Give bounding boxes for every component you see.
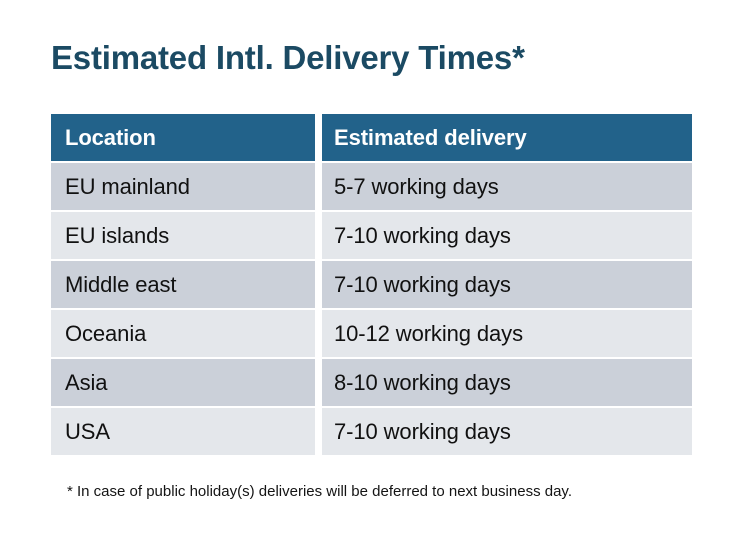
cell-delivery: 7-10 working days <box>322 212 692 259</box>
column-divider <box>315 261 322 308</box>
column-header-delivery-label: Estimated delivery <box>334 125 527 151</box>
cell-delivery: 7-10 working days <box>322 408 692 455</box>
cell-location-text: EU mainland <box>65 174 190 200</box>
cell-delivery-text: 10-12 working days <box>334 321 523 347</box>
cell-location: EU mainland <box>51 163 315 210</box>
cell-location: Middle east <box>51 261 315 308</box>
cell-location-text: Middle east <box>65 272 176 298</box>
cell-delivery-text: 7-10 working days <box>334 223 511 249</box>
column-header-location-label: Location <box>65 125 156 151</box>
table-row: EU islands 7-10 working days <box>51 212 692 259</box>
cell-location-text: Asia <box>65 370 107 396</box>
column-divider <box>315 310 322 357</box>
cell-location-text: USA <box>65 419 110 445</box>
cell-delivery: 5-7 working days <box>322 163 692 210</box>
column-divider <box>315 359 322 406</box>
cell-location-text: Oceania <box>65 321 146 347</box>
table-header-row: Location Estimated delivery <box>51 114 692 161</box>
column-divider <box>315 114 322 161</box>
cell-delivery-text: 7-10 working days <box>334 272 511 298</box>
delivery-times-table: Location Estimated delivery EU mainland … <box>51 114 692 457</box>
cell-delivery-text: 8-10 working days <box>334 370 511 396</box>
cell-delivery: 8-10 working days <box>322 359 692 406</box>
column-header-delivery: Estimated delivery <box>322 114 692 161</box>
column-divider <box>315 408 322 455</box>
table-row: Middle east 7-10 working days <box>51 261 692 308</box>
cell-location: USA <box>51 408 315 455</box>
cell-location-text: EU islands <box>65 223 169 249</box>
table-row: Asia 8-10 working days <box>51 359 692 406</box>
table-row: EU mainland 5-7 working days <box>51 163 692 210</box>
cell-location: Asia <box>51 359 315 406</box>
cell-delivery-text: 7-10 working days <box>334 419 511 445</box>
column-header-location: Location <box>51 114 315 161</box>
cell-delivery: 7-10 working days <box>322 261 692 308</box>
table-row: USA 7-10 working days <box>51 408 692 455</box>
page-title: Estimated Intl. Delivery Times* <box>51 36 525 80</box>
table-row: Oceania 10-12 working days <box>51 310 692 357</box>
cell-delivery: 10-12 working days <box>322 310 692 357</box>
delivery-times-panel: Estimated Intl. Delivery Times* Location… <box>0 0 745 536</box>
column-divider <box>315 212 322 259</box>
cell-location: EU islands <box>51 212 315 259</box>
column-divider <box>315 163 322 210</box>
cell-delivery-text: 5-7 working days <box>334 174 499 200</box>
footnote: * In case of public holiday(s) deliverie… <box>67 481 572 503</box>
cell-location: Oceania <box>51 310 315 357</box>
